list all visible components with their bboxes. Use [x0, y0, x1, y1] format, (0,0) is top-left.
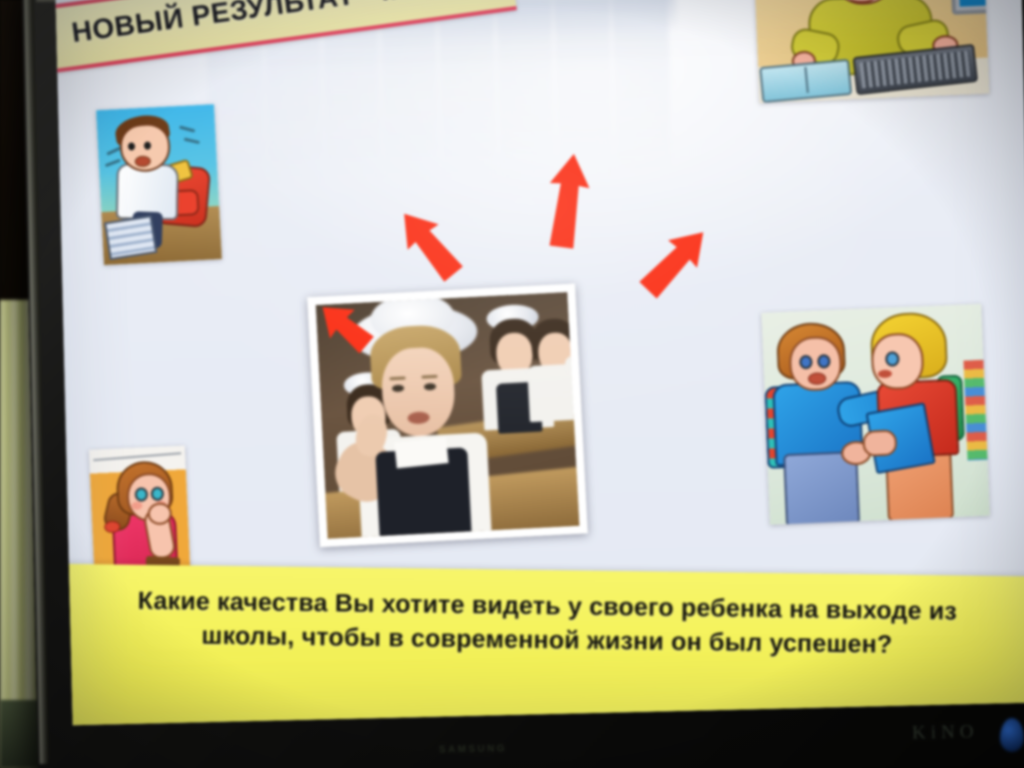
image-boy-at-computer	[753, 0, 989, 103]
samsung-brand-label: SAMSUNG	[418, 743, 528, 761]
image-thinking-girl	[89, 446, 191, 582]
image-two-children-talking	[761, 304, 990, 525]
projected-slide-photo: НОВЫЙ РЕЗУЛЬТАТ - ...	[0, 0, 1024, 768]
kino-drop-icon	[1000, 718, 1024, 752]
slide-question-band: Какие качества Вы хотите видеть у своего…	[56, 564, 1024, 726]
slide-surface: НОВЫЙ РЕЗУЛЬТАТ - ...	[56, 0, 1024, 725]
slide-question: Какие качества Вы хотите видеть у своего…	[92, 584, 1003, 663]
image-boy-with-backpack	[96, 104, 222, 265]
kino-watermark: KiNO	[912, 721, 979, 744]
